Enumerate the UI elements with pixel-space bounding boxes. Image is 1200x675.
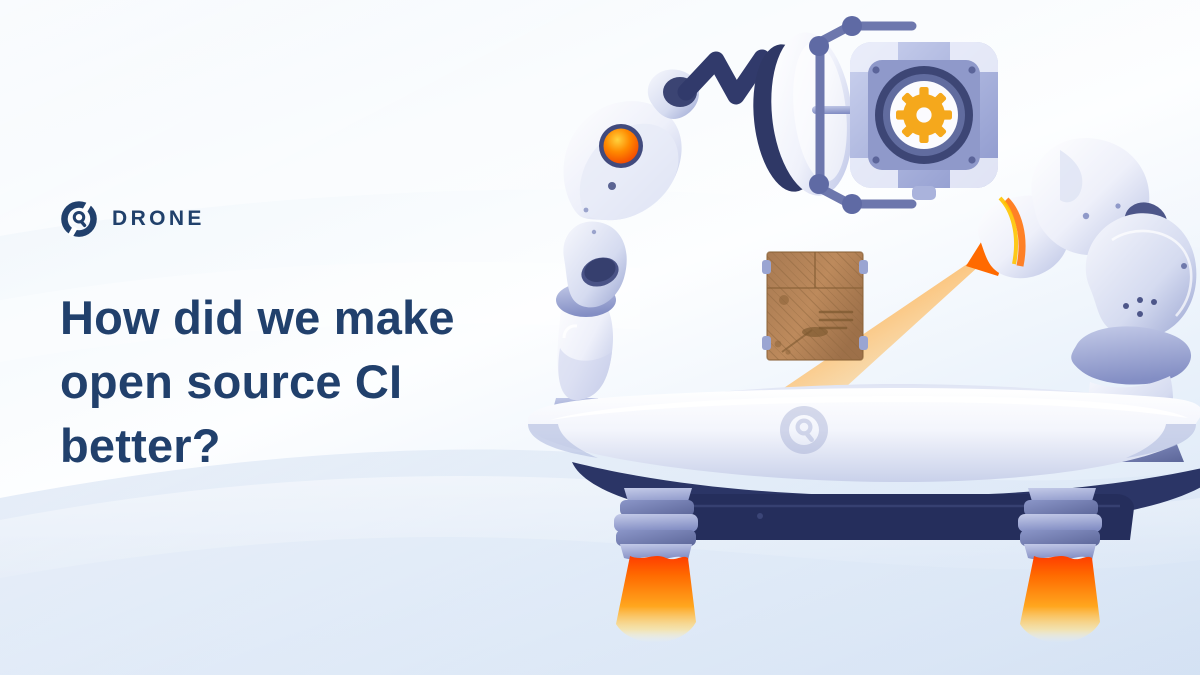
thruster-left	[614, 488, 698, 643]
arm-indicator-light	[599, 124, 643, 168]
gear-cube	[850, 42, 998, 200]
hero-text-column: DRONE How did we make open source CI bet…	[60, 196, 560, 509]
drone-hero-banner: DRONE How did we make open source CI bet…	[0, 0, 1200, 675]
brand-lockup[interactable]: DRONE	[60, 196, 560, 242]
flame	[616, 556, 696, 643]
flame	[1020, 556, 1100, 643]
drone-logo-icon	[60, 200, 98, 238]
page-title: How did we make open source CI better?	[60, 286, 530, 478]
thruster-right	[1018, 488, 1102, 643]
robot-arm-left	[548, 69, 699, 430]
cardboard-box	[762, 252, 868, 360]
hero-illustration	[520, 0, 1200, 675]
gear-icon	[896, 87, 952, 143]
platform-drone-emblem	[780, 406, 828, 454]
brand-wordmark: DRONE	[112, 207, 205, 231]
